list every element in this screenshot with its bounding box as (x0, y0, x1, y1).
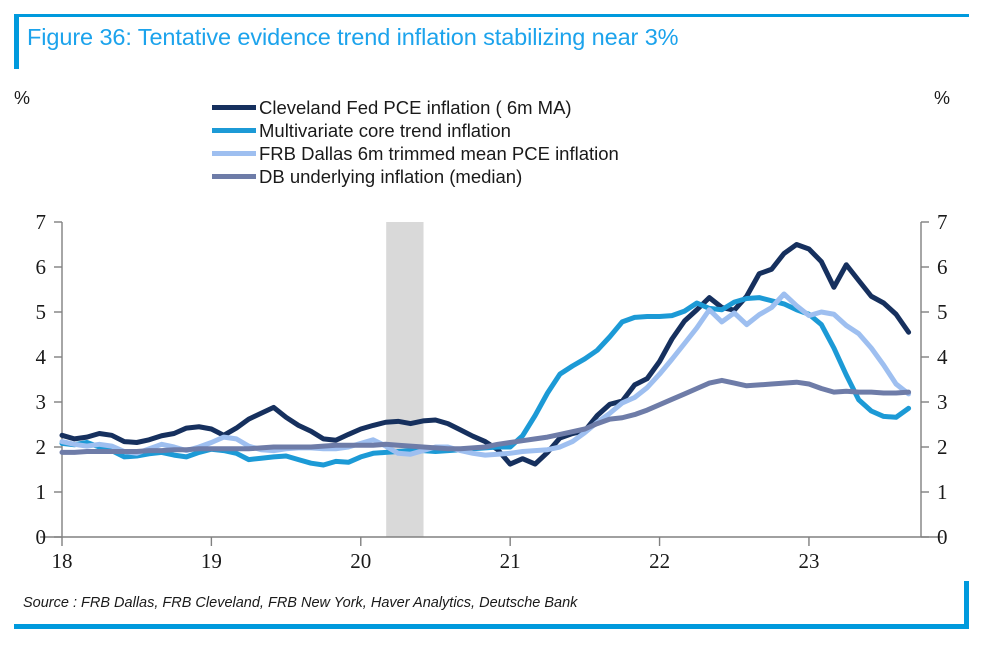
y-tick-label-left: 4 (36, 345, 47, 369)
y-tick-label-left: 6 (36, 255, 47, 279)
y-tick-label-right: 3 (937, 390, 948, 414)
y-tick-label-right: 5 (937, 300, 948, 324)
accent-left-bar (14, 14, 19, 69)
recession-shading (386, 222, 423, 537)
series-line (62, 294, 909, 455)
accent-bottom-rule (14, 624, 969, 629)
y-tick-label-right: 2 (937, 435, 948, 459)
legend-item: DB underlying inflation (median) (212, 165, 619, 188)
y-axis-unit-left: % (14, 88, 30, 109)
accent-right-bar (964, 581, 969, 629)
x-tick-label: 19 (201, 549, 222, 573)
legend-swatch-icon (212, 174, 256, 179)
y-tick-label-right: 7 (937, 210, 948, 234)
y-tick-label-left: 5 (36, 300, 47, 324)
legend-item-label: FRB Dallas 6m trimmed mean PCE inflation (259, 142, 619, 165)
legend-swatch-icon (212, 151, 256, 156)
accent-top-rule (14, 14, 969, 17)
y-tick-label-left: 1 (36, 480, 47, 504)
y-tick-label-right: 4 (937, 345, 948, 369)
figure-title: Figure 36: Tentative evidence trend infl… (27, 24, 678, 51)
x-tick-label: 18 (52, 549, 73, 573)
legend-item: Cleveland Fed PCE inflation ( 6m MA) (212, 96, 619, 119)
chart-legend: Cleveland Fed PCE inflation ( 6m MA)Mult… (212, 96, 619, 188)
y-tick-label-left: 0 (36, 525, 47, 549)
y-tick-label-left: 3 (36, 390, 47, 414)
y-tick-label-right: 1 (937, 480, 948, 504)
y-tick-label-left: 7 (36, 210, 47, 234)
x-tick-label: 20 (350, 549, 371, 573)
figure-panel: Figure 36: Tentative evidence trend infl… (0, 0, 983, 645)
legend-swatch-icon (212, 128, 256, 133)
series-line (62, 245, 909, 465)
x-tick-label: 21 (500, 549, 521, 573)
x-tick-label: 22 (649, 549, 670, 573)
x-tick-label: 23 (798, 549, 819, 573)
series-line (62, 298, 909, 465)
y-tick-label-left: 2 (36, 435, 47, 459)
legend-item-label: DB underlying inflation (median) (259, 165, 522, 188)
legend-swatch-icon (212, 105, 256, 110)
y-tick-label-right: 6 (937, 255, 948, 279)
legend-item-label: Cleveland Fed PCE inflation ( 6m MA) (259, 96, 572, 119)
source-note: Source : FRB Dallas, FRB Cleveland, FRB … (23, 595, 577, 611)
y-tick-label-right: 0 (937, 525, 948, 549)
y-axis-unit-right: % (934, 88, 950, 109)
series-line (62, 380, 909, 452)
legend-item-label: Multivariate core trend inflation (259, 119, 511, 142)
legend-item: Multivariate core trend inflation (212, 119, 619, 142)
legend-item: FRB Dallas 6m trimmed mean PCE inflation (212, 142, 619, 165)
